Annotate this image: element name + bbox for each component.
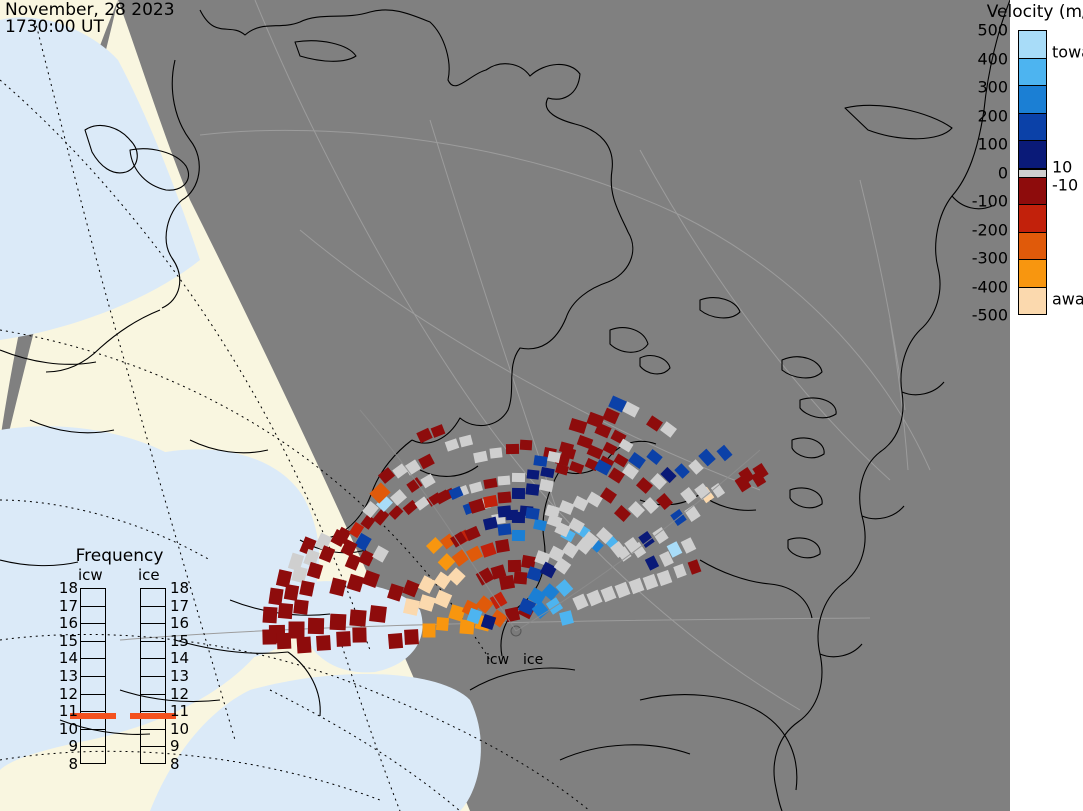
velocity-tick-100: 100 [977, 135, 1008, 154]
frequency-tick-12: 12 [59, 685, 78, 703]
frequency-tick-9: 9 [170, 737, 180, 755]
frequency-tick-11: 11 [170, 702, 189, 720]
gate-cell [514, 571, 528, 584]
velocity-band--150 [1019, 205, 1046, 233]
velocity-band--450 [1019, 288, 1046, 315]
frequency-tick-18: 18 [170, 579, 189, 597]
velocity-tick-200: 200 [977, 106, 1008, 125]
frequency-tick-16: 16 [59, 614, 78, 632]
gate-cell [498, 505, 512, 517]
gate-cell [495, 539, 510, 553]
superdarn-fan-plot: November, 28 20231730:00 UT icwice Frequ… [0, 0, 1083, 811]
gate-cell [436, 617, 449, 631]
velocity-tick-labels: 5004003002001000-100-200-300-400-500 [958, 30, 1008, 315]
frequency-segment [141, 747, 165, 765]
gate-cell [262, 607, 277, 624]
frequency-segment [141, 695, 165, 713]
velocity-band--250 [1019, 233, 1046, 261]
frequency-segment [81, 642, 105, 660]
toward-label: toward [1052, 43, 1083, 62]
gate-cell [352, 627, 366, 642]
velocity-tick--400: -400 [972, 277, 1008, 296]
frequency-segment [81, 589, 105, 607]
velocity-tick-400: 400 [977, 49, 1008, 68]
velocity-tick-500: 500 [977, 21, 1008, 40]
gate-cell [336, 631, 351, 647]
velocity-band-50 [1019, 141, 1046, 169]
gate-cell [404, 629, 419, 645]
gate-cell [498, 491, 512, 503]
velocity-band--50 [1019, 178, 1046, 206]
velocity-band-150 [1019, 114, 1046, 142]
frequency-segment [81, 659, 105, 677]
frequency-segment [141, 659, 165, 677]
gate-cell [262, 629, 276, 644]
frequency-title: Frequency [52, 546, 187, 566]
frequency-channel-name-icw: icw [78, 566, 103, 584]
frequency-tick-14: 14 [170, 649, 189, 667]
gate-cell [512, 488, 525, 499]
gate-cell [521, 555, 536, 569]
frequency-segment [81, 607, 105, 625]
gate-cell [527, 469, 540, 479]
gate-cell [330, 614, 347, 631]
gate-cell [512, 473, 525, 482]
frequency-segment [141, 624, 165, 642]
frequency-segment [81, 695, 105, 713]
frequency-ticks-icw: 18171615141312111098 [54, 588, 78, 764]
frequency-segment [81, 677, 105, 695]
gate-cell [299, 580, 315, 596]
frequency-bar-ice [140, 588, 166, 764]
gate-cell [288, 621, 304, 638]
gate-cell [422, 623, 435, 637]
frequency-tick-17: 17 [59, 597, 78, 615]
frequency-segment [81, 747, 105, 765]
frequency-tick-13: 13 [59, 667, 78, 685]
frequency-legend: Frequency icw18171615141312111098ice1817… [52, 546, 187, 776]
frequency-tick-15: 15 [170, 632, 189, 650]
gate-cell [284, 584, 299, 601]
gate-cell [308, 618, 324, 634]
frequency-segment [141, 642, 165, 660]
frequency-tick-10: 10 [170, 720, 189, 738]
velocity-band-0 [1019, 169, 1046, 178]
velocity-tick--100: -100 [972, 192, 1008, 211]
gate-cell [278, 603, 293, 619]
velocity-band-250 [1019, 86, 1046, 114]
gate-cell [388, 633, 403, 649]
gate-cell [349, 609, 366, 626]
frequency-bar-icw [80, 588, 106, 764]
frequency-tick-9: 9 [68, 737, 78, 755]
gate-cell [277, 633, 292, 650]
frequency-tick-10: 10 [59, 720, 78, 738]
frequency-tick-16: 16 [170, 614, 189, 632]
away-label: away [1052, 290, 1083, 309]
frequency-tick-11: 11 [59, 702, 78, 720]
velocity-band-450 [1019, 31, 1046, 59]
gate-cell [533, 455, 547, 467]
frequency-segment [141, 589, 165, 607]
frequency-tick-13: 13 [170, 667, 189, 685]
frequency-channel-name-ice: ice [138, 566, 160, 584]
fov-label-ice: ice [523, 652, 543, 668]
velocity-band--350 [1019, 260, 1046, 288]
gate-cell [489, 447, 502, 458]
frequency-tick-8: 8 [68, 755, 78, 773]
frequency-segment [141, 677, 165, 695]
frequency-ticks-ice: 18171615141312111098 [170, 588, 194, 764]
gate-cell [512, 512, 525, 523]
velocity-legend-title: Velocity (m/s) [950, 2, 1083, 22]
frequency-tick-8: 8 [170, 755, 180, 773]
frequency-tick-15: 15 [59, 632, 78, 650]
gate-cell [505, 607, 520, 622]
frequency-tick-18: 18 [59, 579, 78, 597]
gate-cell [498, 476, 511, 486]
velocity-legend-panel: Velocity (m/s) 5004003002001000-100-200-… [1010, 0, 1083, 811]
gate-cell [525, 507, 539, 520]
gate-cell [512, 530, 525, 541]
fov-label-icw: icw [486, 652, 509, 668]
velocity-tick--200: -200 [972, 220, 1008, 239]
frequency-segment [81, 624, 105, 642]
frequency-segment [81, 730, 105, 748]
frequency-tick-17: 17 [170, 597, 189, 615]
frequency-tick-14: 14 [59, 649, 78, 667]
frequency-segment [141, 730, 165, 748]
gate-cell [520, 440, 533, 451]
frequency-tick-12: 12 [170, 685, 189, 703]
gate-cell [296, 637, 311, 654]
gate-cell [293, 599, 308, 614]
zero-lower-label: -10 [1052, 175, 1078, 194]
timestamp-time: 1730:00 UT [5, 17, 104, 37]
map-panel: November, 28 20231730:00 UT icwice Frequ… [0, 0, 1010, 811]
velocity-band-350 [1019, 59, 1046, 87]
velocity-colorbar [1018, 30, 1047, 315]
velocity-tick-300: 300 [977, 78, 1008, 97]
frequency-segment [141, 607, 165, 625]
timestamp: November, 28 20231730:00 UT [5, 2, 175, 36]
velocity-tick-0: 0 [998, 163, 1008, 182]
gate-cell [497, 523, 511, 535]
gate-cell [316, 635, 331, 651]
velocity-tick--300: -300 [972, 249, 1008, 268]
gate-cell [508, 560, 521, 572]
gate-cell [506, 444, 519, 454]
zero-upper-label: 10 [1052, 157, 1072, 176]
velocity-tick--500: -500 [972, 306, 1008, 325]
gate-cell [369, 605, 387, 623]
gate-cell [525, 483, 539, 495]
gate-cell [268, 588, 283, 606]
